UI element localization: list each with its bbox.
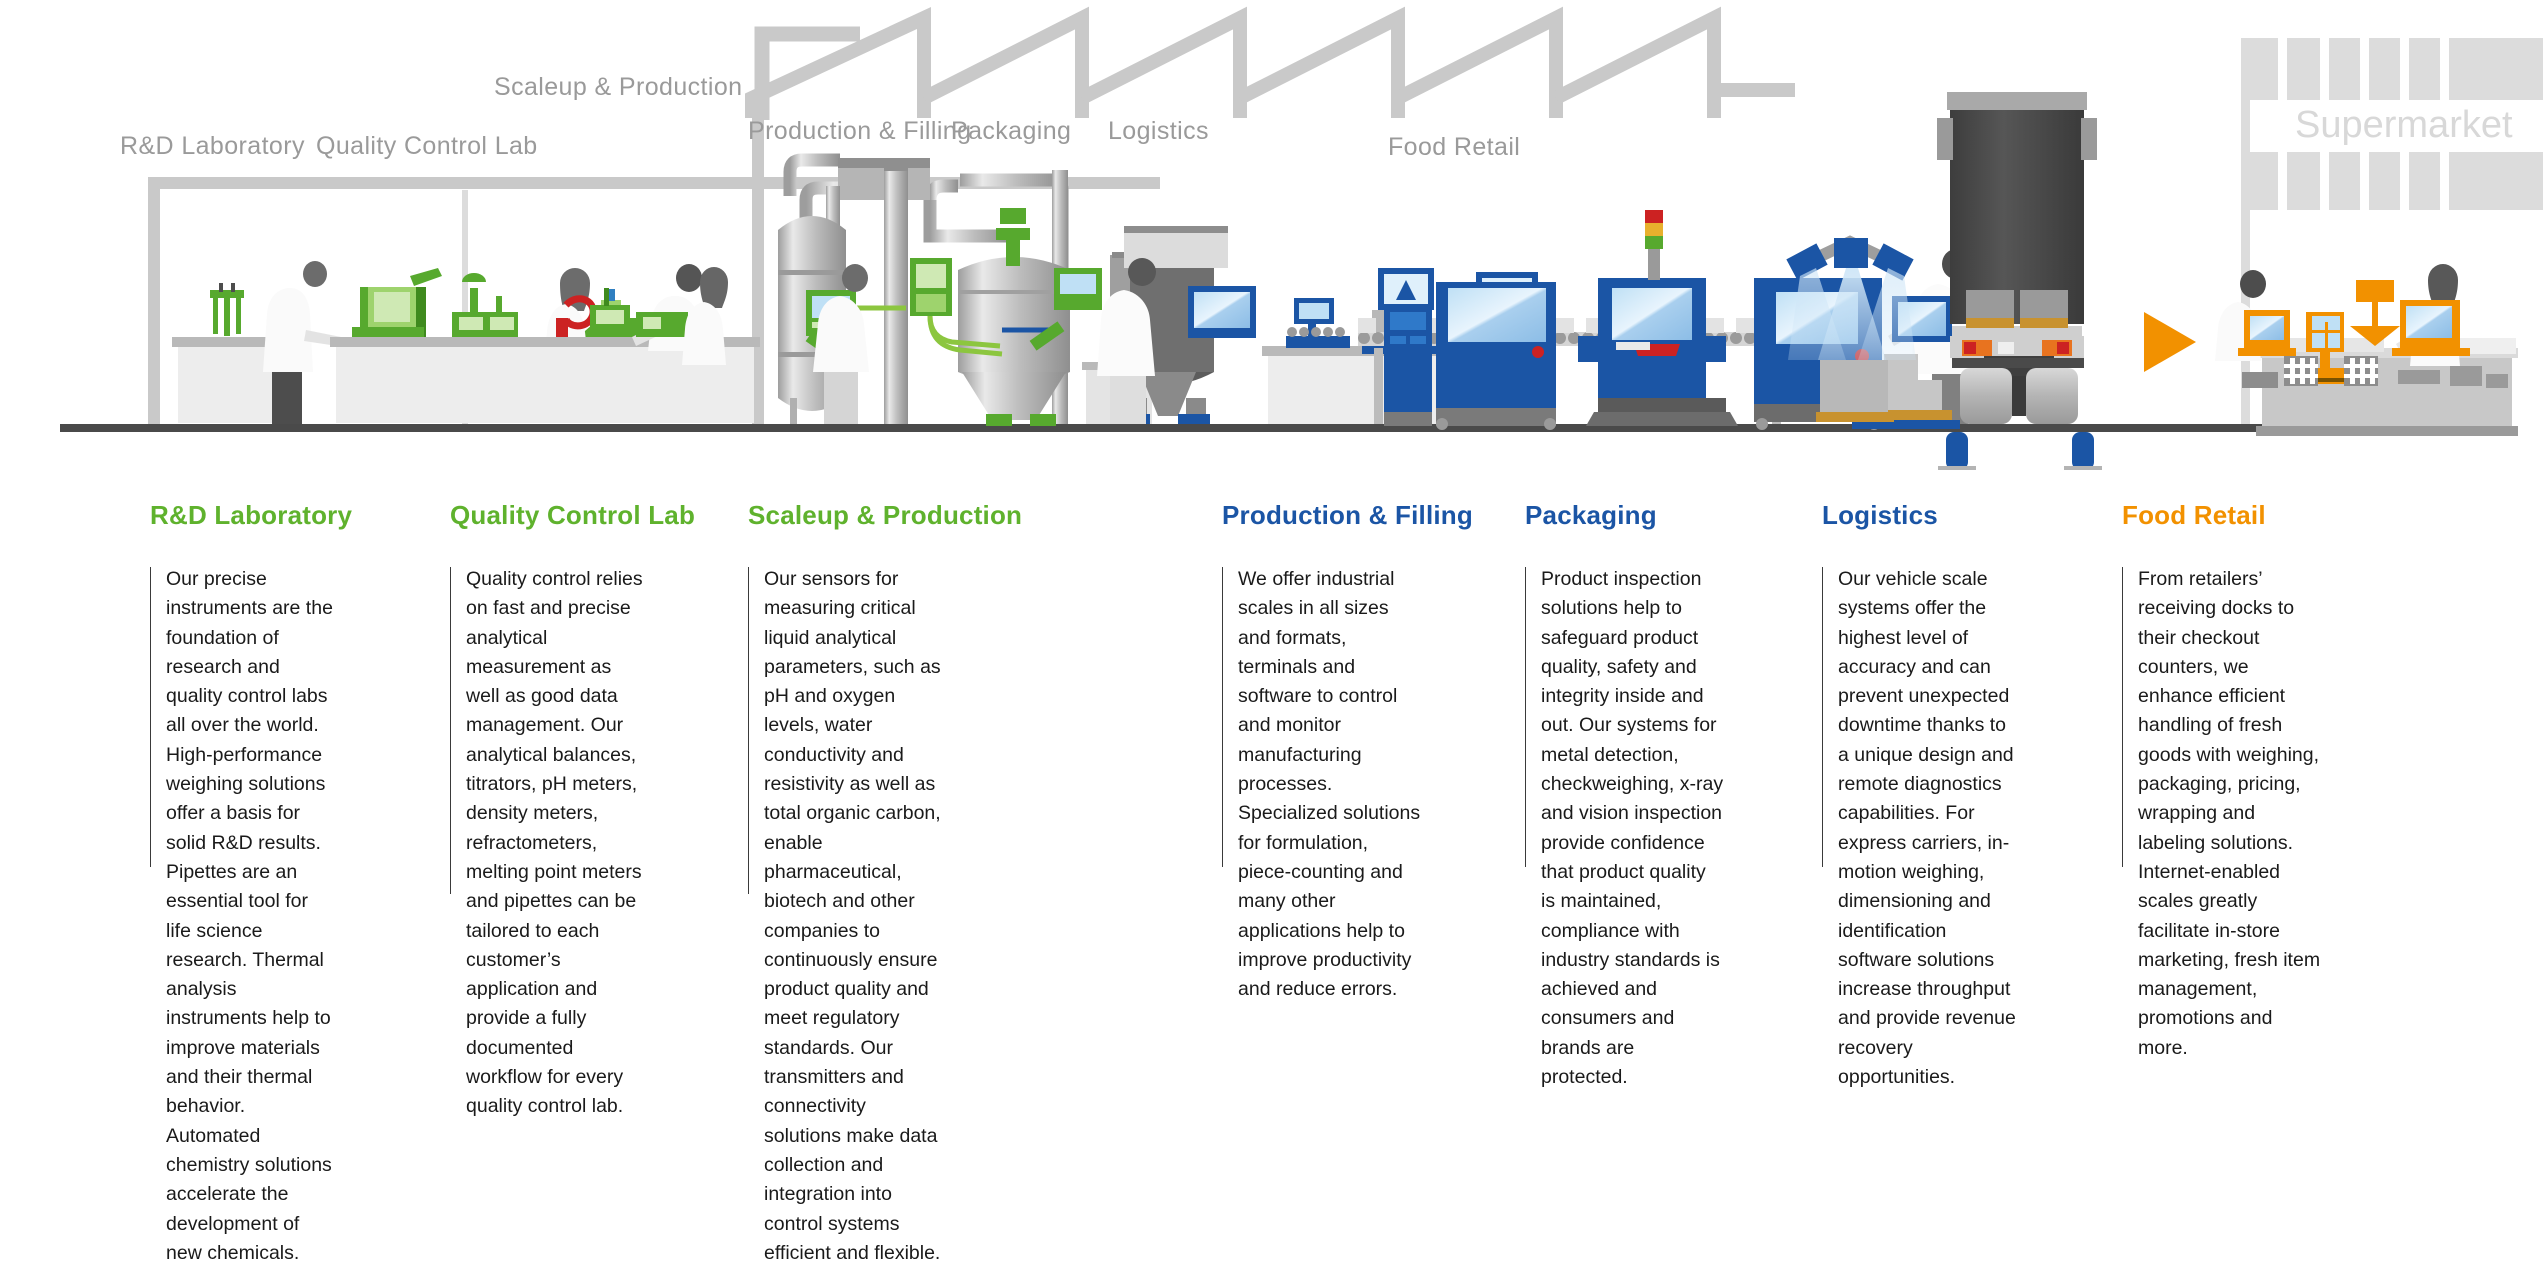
column-title-logistics: Logistics: [1822, 500, 2022, 531]
titrator-icon: [352, 268, 442, 337]
truck-rear: [1937, 92, 2097, 424]
hanging-scale-icon: [2350, 280, 2400, 346]
column-title-rd-laboratory: R&D Laboratory: [150, 500, 335, 531]
analytical-balance-icon: [452, 273, 518, 337]
infographic-canvas: R&D Laboratory Quality Control Lab Scale…: [0, 0, 2543, 1009]
pipette-stand-icon: [210, 283, 244, 336]
column-packaging: Packaging Product inspection solutions h…: [1525, 500, 1725, 1092]
column-title-scaleup-production: Scaleup & Production: [748, 500, 948, 531]
scene-label-scaleup-production: Scaleup & Production: [494, 73, 742, 102]
scene-label-food-retail: Food Retail: [1388, 133, 1520, 162]
ground-line: [60, 424, 2503, 432]
column-body-logistics: Our vehicle scale systems offer the high…: [1822, 565, 2022, 1092]
column-body-packaging: Product inspection solutions help to saf…: [1525, 565, 1725, 1092]
process-chain-illustration: R&D Laboratory Quality Control Lab Scale…: [0, 0, 2543, 470]
vehicle-scale-loadcells: [1930, 432, 2112, 470]
scene-label-packaging: Packaging: [951, 117, 1071, 146]
column-body-production-filling: We offer industrial scales in all sizes …: [1222, 565, 1422, 1004]
column-title-packaging: Packaging: [1525, 500, 1725, 531]
scene-label-rd-laboratory: R&D Laboratory: [120, 132, 305, 161]
scene-label-logistics: Logistics: [1108, 117, 1209, 146]
scene-food-retail: [2215, 38, 2543, 436]
scanned-pallet: [1816, 360, 1894, 422]
metal-detector-unit: [1436, 282, 1556, 430]
description-columns: R&D Laboratory Our precise instruments a…: [0, 500, 2543, 1009]
column-title-food-retail: Food Retail: [2122, 500, 2327, 531]
column-title-production-filling: Production & Filling: [1222, 500, 1422, 531]
scene-label-quality-control-lab: Quality Control Lab: [316, 132, 538, 161]
illustration-svg: [0, 0, 2543, 470]
transmitter-icon-3: [1054, 268, 1102, 310]
column-body-rd-laboratory: Our precise instruments are the foundati…: [150, 565, 335, 1268]
column-quality-control-lab: Quality Control Lab Quality control reli…: [450, 500, 650, 1122]
scene-logistics: [1786, 92, 2196, 470]
column-rd-laboratory: R&D Laboratory Our precise instruments a…: [150, 500, 335, 1268]
scene-label-production-filling: Production & Filling: [748, 117, 971, 146]
distillation-column: [884, 168, 908, 424]
retail-scale-icon-1: [2238, 310, 2296, 356]
column-title-quality-control-lab: Quality Control Lab: [450, 500, 650, 531]
scene-scaleup-production: [744, 158, 1156, 426]
column-food-retail: Food Retail From retailers’ receiving do…: [2122, 500, 2327, 1063]
column-scaleup-production: Scaleup & Production Our sensors for mea…: [748, 500, 948, 1268]
column-body-food-retail: From retailers’ receiving docks to their…: [2122, 565, 2327, 1063]
supermarket-sign-label: Supermarket: [2295, 104, 2513, 147]
terminal-display-icon: [1188, 286, 1256, 338]
valve-icon: [996, 208, 1030, 266]
column-body-quality-control-lab: Quality control relies on fast and preci…: [450, 565, 650, 1122]
flow-arrow-icon: [2144, 312, 2196, 372]
column-body-scaleup-production: Our sensors for measuring critical liqui…: [748, 565, 948, 1268]
dimensioning-scanner: [1786, 238, 1916, 360]
piece-counting-scale: [1286, 298, 1350, 348]
column-production-filling: Production & Filling We offer industrial…: [1222, 500, 1422, 1004]
checkout-pos-terminal: [2392, 300, 2470, 356]
scene-quality-control-lab: [486, 264, 766, 423]
checkweigher-terminal: [1384, 306, 1432, 426]
column-logistics: Logistics Our vehicle scale systems offe…: [1822, 500, 2022, 1092]
transmitter-icon-2: [910, 258, 952, 316]
